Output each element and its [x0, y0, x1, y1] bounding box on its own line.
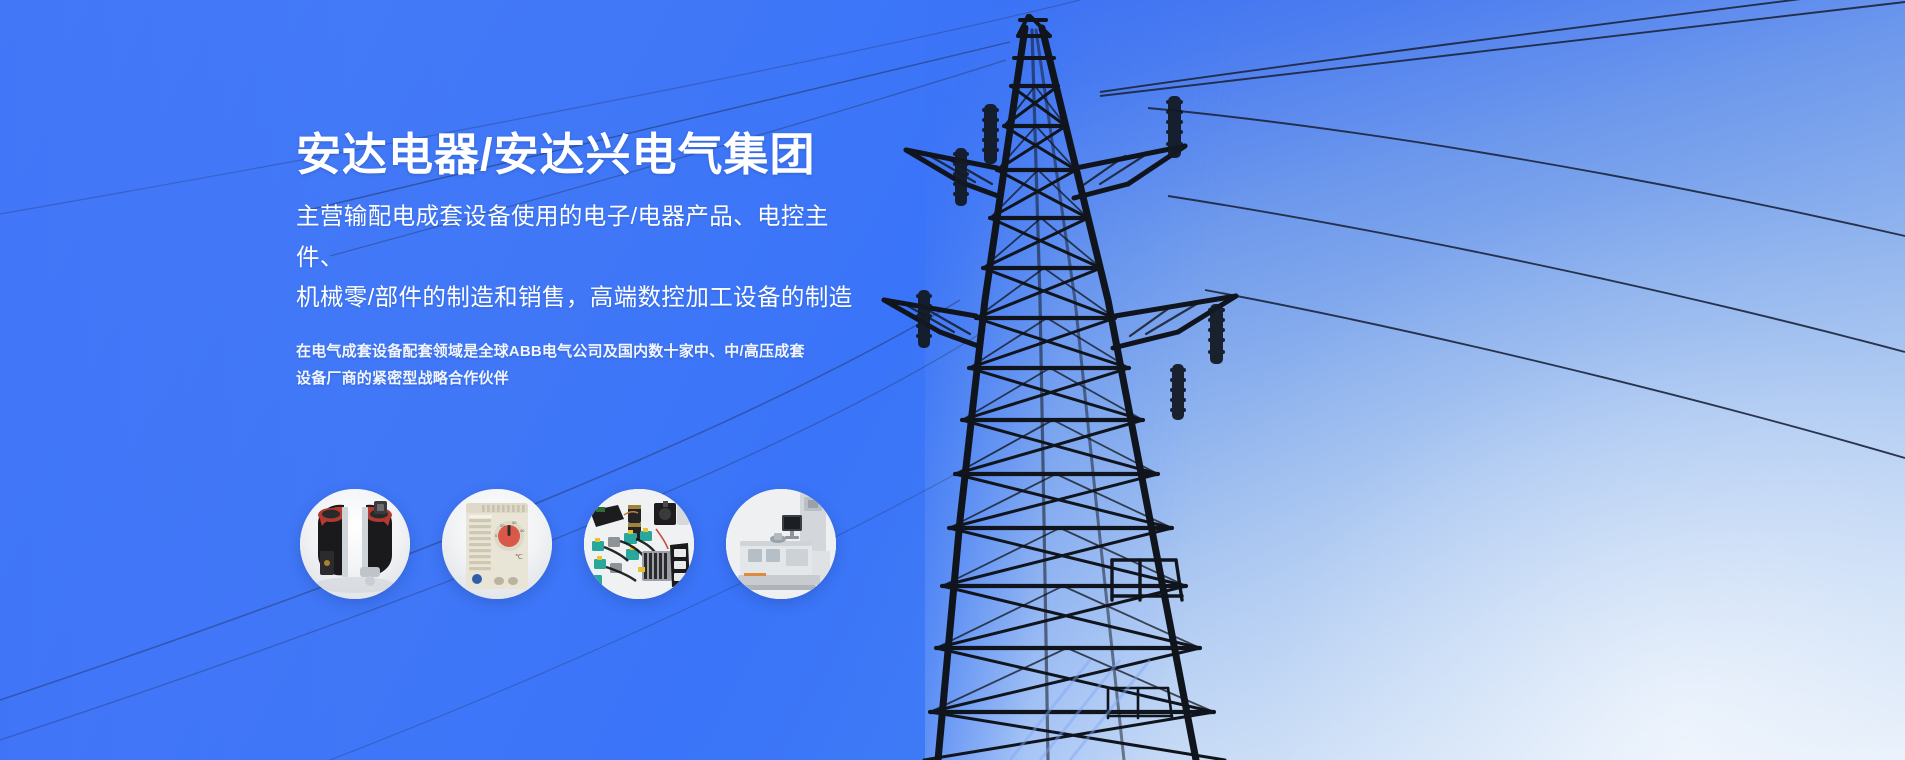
- svg-text:30: 30: [512, 520, 517, 525]
- cabinet-thermostat-icon: 020 3040 ℃: [442, 489, 552, 599]
- sky-photograph: [925, 0, 1905, 760]
- product-thumb-cabinet-thermostat[interactable]: 020 3040 ℃: [442, 489, 552, 599]
- svg-text:℃: ℃: [515, 554, 523, 561]
- cnc-machine-icon: [726, 489, 836, 599]
- product-thumb-electrical-components[interactable]: [584, 489, 694, 599]
- svg-text:20: 20: [500, 523, 505, 528]
- banner-description: 在电气成套设备配套领域是全球ABB电气公司及国内数十家中、中/高压成套 设备厂商…: [296, 339, 936, 392]
- banner-subtitle-line-2: 机械零/部件的制造和销售，高端数控加工设备的制造: [296, 277, 876, 317]
- product-thumb-cnc-machine[interactable]: [726, 489, 836, 599]
- electrical-components-icon: [584, 489, 694, 599]
- banner-description-line-1: 在电气成套设备配套领域是全球ABB电气公司及国内数十家中、中/高压成套: [296, 339, 836, 365]
- product-thumbnail-row: 020 3040 ℃: [300, 489, 836, 599]
- hero-banner: 安达电器/安达兴电气集团 主营输配电成套设备使用的电子/电器产品、电控主件、 机…: [0, 0, 1905, 760]
- banner-subtitle-line-1: 主营输配电成套设备使用的电子/电器产品、电控主件、: [296, 196, 876, 277]
- banner-text-block: 安达电器/安达兴电气集团 主营输配电成套设备使用的电子/电器产品、电控主件、 机…: [296, 128, 936, 392]
- banner-subtitle: 主营输配电成套设备使用的电子/电器产品、电控主件、 机械零/部件的制造和销售，高…: [296, 196, 936, 317]
- product-thumb-current-transformer[interactable]: [300, 489, 410, 599]
- svg-text:40: 40: [520, 528, 525, 533]
- current-transformer-icon: [300, 489, 410, 599]
- banner-description-line-2: 设备厂商的紧密型战略合作伙伴: [296, 366, 836, 392]
- banner-headline: 安达电器/安达兴电气集团: [296, 128, 936, 181]
